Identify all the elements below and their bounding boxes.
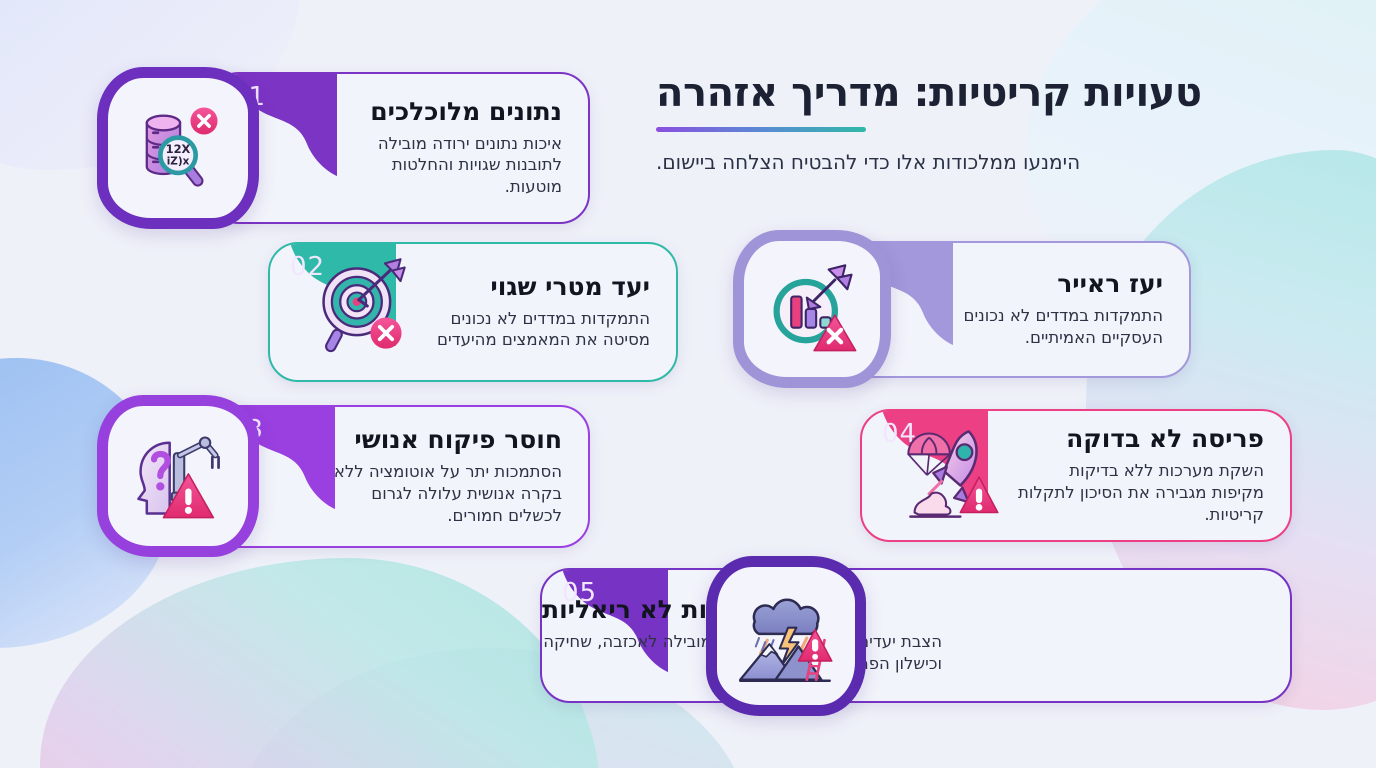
- card-01-description: איכות נתונים ירודה מובילה לתובנות שגויות…: [331, 133, 562, 198]
- card-03-right[interactable]: 03 יעז ראייר התמקדות במדדים לא נכונים הע…: [733, 241, 1191, 378]
- card-03-right-description: התמקדות במדדים לא נכונים העסקיים האמיתיי…: [947, 305, 1163, 349]
- card-03-left-icon-ring: [97, 395, 259, 557]
- card-04-description: השקת מערכות ללא בדיקות מקיפות מגבירה את …: [1017, 460, 1264, 525]
- card-04-icon-ring: [876, 397, 1028, 549]
- card-01-body: 01 נתונים מלוכלכים איכות נתונים ירודה מו…: [209, 72, 590, 224]
- card-05-icon-holder: [706, 556, 866, 716]
- card-01-title: נתונים מלוכלכים: [331, 98, 562, 127]
- card-03-left-icon-holder: [97, 395, 259, 557]
- card-01[interactable]: 01 נתונים מלוכלכים איכות נתונים ירודה מו…: [97, 72, 590, 224]
- storm-mountain-warning-icon: [734, 584, 838, 688]
- card-03-right-title: יעז ראייר: [947, 270, 1163, 299]
- card-05-number: 05: [562, 578, 597, 608]
- card-03-left-description: הסתמכות יתר על אוטומציה ללא בקרה אנושית …: [329, 461, 562, 526]
- card-04-title: פריסה לא בדוקה: [1017, 425, 1264, 454]
- card-04[interactable]: 04 פריסה לא בדוקה השקת מערכות ללא בדיקות…: [860, 409, 1292, 542]
- card-03-left-body: 03 חוסר פיקוח אנושי הסתמכות יתר על אוטומ…: [207, 405, 590, 548]
- card-05-text: ציפיות לא ריאליות הצבת יעדים בלתי ניתנים…: [542, 570, 1290, 701]
- slide-header: טעויות קריטיות: מדריך אזהרה הימנעו ממלכו…: [656, 72, 1316, 176]
- svg-text:12X: 12X: [166, 142, 191, 156]
- card-03-right-icon-ring: [733, 230, 891, 388]
- card-01-text: נתונים מלוכלכים איכות נתונים ירודה מוביל…: [211, 74, 588, 222]
- card-03-left[interactable]: 03 חוסר פיקוח אנושי הסתמכות יתר על אוטומ…: [97, 405, 590, 548]
- chart-arrow-warning-icon: [760, 257, 864, 361]
- card-05-icon-ring: [706, 556, 866, 716]
- card-02-icon-ring: [286, 231, 436, 381]
- card-01-icon-holder: 12X iZ)x: [97, 67, 259, 229]
- head-robot-warning-icon: [126, 424, 230, 528]
- page-title: טעויות קריטיות: מדריך אזהרה: [656, 72, 1316, 115]
- card-02-icon-holder: [286, 231, 436, 381]
- database-error-icon: 12X iZ)x: [126, 96, 230, 200]
- card-03-left-text: חוסר פיקוח אנושי הסתמכות יתר על אוטומציה…: [209, 407, 588, 546]
- card-05[interactable]: 05 ציפיות לא ריאליות הצבת יעדים בלתי נית…: [540, 568, 1292, 703]
- rocket-warning-icon: [900, 421, 1004, 525]
- card-03-left-title: חוסר פיקוח אנושי: [329, 426, 562, 455]
- card-02-description: התמקדות במדדים לא נכונים מסיטה את המאמצי…: [420, 308, 650, 352]
- card-01-icon-ring: 12X iZ)x: [97, 67, 259, 229]
- card-02[interactable]: 02 יעד מטרי שגוי התמקדות במדדים לא נכוני…: [268, 242, 678, 382]
- card-02-title: יעד מטרי שגוי: [420, 273, 650, 302]
- blob-bottom-wave-icon: [40, 558, 600, 768]
- card-05-body: 05 ציפיות לא ריאליות הצבת יעדים בלתי נית…: [540, 568, 1292, 703]
- svg-text:iZ)x: iZ)x: [167, 156, 190, 168]
- title-underline-rule: [656, 127, 866, 132]
- card-04-icon-holder: [876, 397, 1028, 549]
- page-subtitle: הימנעו ממלכודות אלו כדי להבטיח הצלחה ביי…: [656, 148, 1316, 176]
- target-arrow-error-icon: [309, 254, 413, 358]
- card-03-right-icon-holder: [733, 230, 891, 388]
